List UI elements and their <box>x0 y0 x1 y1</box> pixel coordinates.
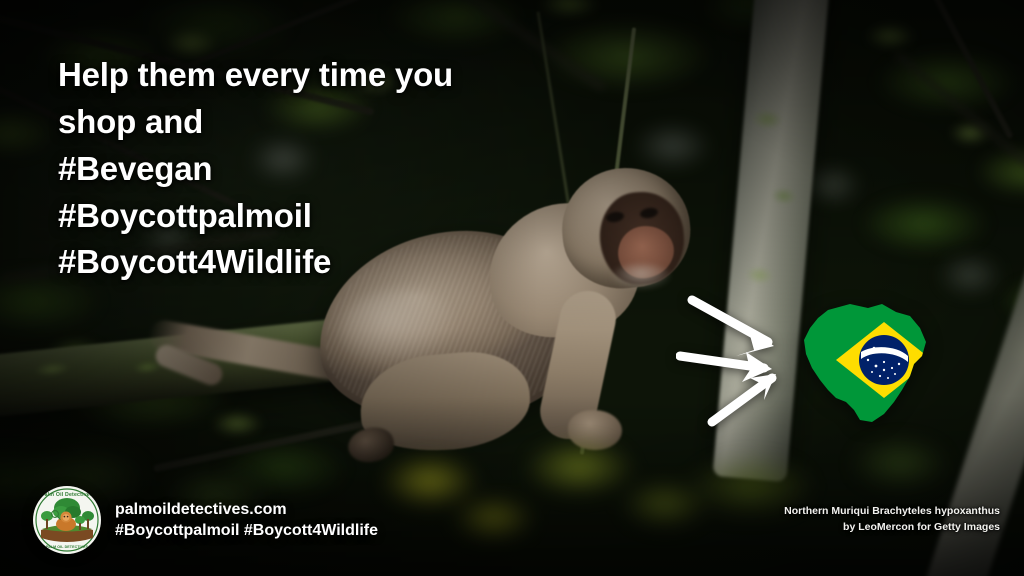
arrow-shaft-3 <box>712 378 772 422</box>
palm-oil-detectives-logo-icon: Palm Oil Detectives PALM OIL DETECTIVES <box>33 486 101 554</box>
brand-text-block: palmoildetectives.com #Boycottpalmoil #B… <box>115 501 378 540</box>
flag-blue-globe <box>859 335 909 385</box>
brand-hashtags: #Boycottpalmoil #Boycott4Wildlife <box>115 522 378 540</box>
credit-author: by LeoMercon for Getty Images <box>784 519 1000 536</box>
brazil-map-flag-badge <box>798 298 934 426</box>
campaign-poster: Help them every time you shop and #Beveg… <box>0 0 1024 576</box>
logo-title-text: Palm Oil Detectives <box>33 492 101 498</box>
brand-block: Palm Oil Detectives PALM OIL DETECTIVES … <box>33 486 378 554</box>
headline-text: Help them every time you shop and #Beveg… <box>58 52 528 286</box>
headline-line-5: #Boycott4Wildlife <box>58 239 528 286</box>
headline-line-2: shop and <box>58 99 528 146</box>
photo-credit: Northern Muriqui Brachyteles hypoxanthus… <box>784 503 1000 536</box>
credit-species: Northern Muriqui Brachyteles hypoxanthus <box>784 503 1000 520</box>
headline-line-3: #Bevegan <box>58 146 528 193</box>
logo-subtitle-text: PALM OIL DETECTIVES <box>33 545 101 549</box>
headline-line-4: #Boycottpalmoil <box>58 193 528 240</box>
headline-line-1: Help them every time you <box>58 52 528 99</box>
website-url[interactable]: palmoildetectives.com <box>115 501 378 519</box>
